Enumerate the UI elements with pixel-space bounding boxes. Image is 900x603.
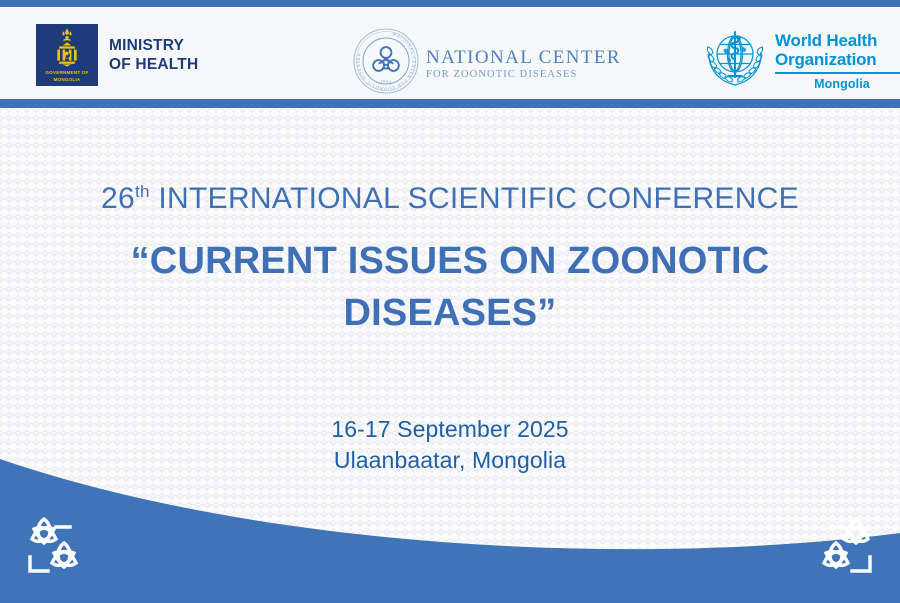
- ncz-subtitle: FOR ZOONOTIC DISEASES: [426, 70, 621, 81]
- header-accent-bar: [0, 99, 900, 108]
- conference-theme: “CURRENT ISSUES ON ZOONOTIC DISEASES”: [0, 235, 900, 339]
- conference-ordinal-suffix: th: [135, 182, 150, 201]
- headline-block: 26th INTERNATIONAL SCIENTIFIC CONFERENCE…: [0, 172, 900, 339]
- moh-emblem-caption-line2: MONGOLIA: [36, 77, 98, 83]
- who-country-label: Mongolia: [775, 77, 900, 91]
- mongolian-ulzii-knot-ornament-left-icon: [14, 511, 94, 581]
- logo-national-center-zoonotic-diseases: NATIONAL CENTER FOR ZOONOTIC DISEASES 19…: [352, 27, 621, 95]
- mongolian-ulzii-knot-ornament-right-icon: [806, 511, 886, 581]
- conference-title-text: INTERNATIONAL SCIENTIFIC CONFERENCE: [150, 182, 799, 215]
- moh-emblem-caption-line1: GOVERNMENT OF: [36, 70, 98, 76]
- conference-title-slide: GOVERNMENT OF MONGOLIA MINISTRY OF HEALT…: [0, 0, 900, 603]
- conference-ordinal-line: 26th INTERNATIONAL SCIENTIFIC CONFERENCE: [0, 172, 900, 219]
- soyombo-glyph-icon: [48, 27, 86, 67]
- seal-year: 1951: [380, 79, 392, 84]
- logo-world-health-organization: World Health Organization Mongolia: [702, 25, 900, 91]
- ncz-title: NATIONAL CENTER: [426, 48, 621, 67]
- moh-name-line1: MINISTRY: [109, 36, 198, 55]
- conference-ordinal: 26: [101, 182, 135, 215]
- top-accent-bar: [0, 0, 900, 7]
- moh-name-line2: OF HEALTH: [109, 55, 198, 74]
- mongolia-state-emblem-soyombo-icon: GOVERNMENT OF MONGOLIA: [36, 24, 98, 86]
- logo-ministry-of-health: GOVERNMENT OF MONGOLIA MINISTRY OF HEALT…: [36, 24, 198, 86]
- who-name-line2: Organization: [775, 50, 900, 69]
- national-center-name: NATIONAL CENTER FOR ZOONOTIC DISEASES: [426, 42, 621, 81]
- who-name-line1: World Health: [775, 31, 900, 50]
- bottom-wave-decoration: [0, 433, 900, 603]
- wave-blue-layer: [0, 459, 900, 603]
- national-center-zoonotic-diseases-seal-icon: NATIONAL CENTER FOR ZOONOTIC DISEASES 19…: [352, 27, 420, 95]
- who-divider: [775, 72, 900, 74]
- who-emblem-rod-of-asclepius-laurel-icon: [702, 25, 768, 91]
- who-name-block: World Health Organization Mongolia: [775, 25, 900, 91]
- logo-header-band: GOVERNMENT OF MONGOLIA MINISTRY OF HEALT…: [0, 7, 900, 99]
- ministry-of-health-name: MINISTRY OF HEALTH: [109, 36, 198, 74]
